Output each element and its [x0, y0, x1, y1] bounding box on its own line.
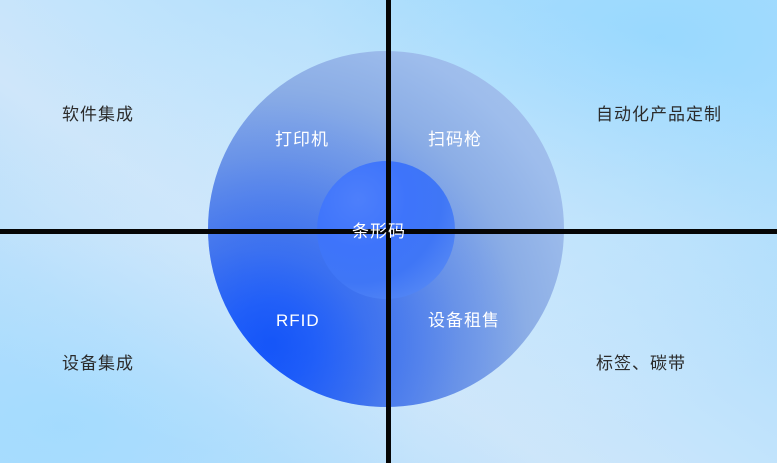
diagram-canvas: 打印机 扫码枪 RFID 设备租售 条形码 软件集成 自动化产品定制 设备集成 …: [0, 0, 777, 463]
quadrant-label-software: 软件集成: [62, 106, 134, 123]
quadrant-label-consumable: 标签、碳带: [596, 355, 686, 372]
center-label-barcode: 条形码: [352, 223, 406, 240]
ring-label-rfid: RFID: [276, 312, 320, 329]
ring-label-scanner: 扫码枪: [428, 131, 482, 148]
quadrant-label-automation: 自动化产品定制: [596, 106, 722, 123]
ring-label-rental: 设备租售: [428, 312, 500, 329]
quadrant-label-equipment: 设备集成: [62, 355, 134, 372]
ring-label-printer: 打印机: [275, 131, 329, 148]
